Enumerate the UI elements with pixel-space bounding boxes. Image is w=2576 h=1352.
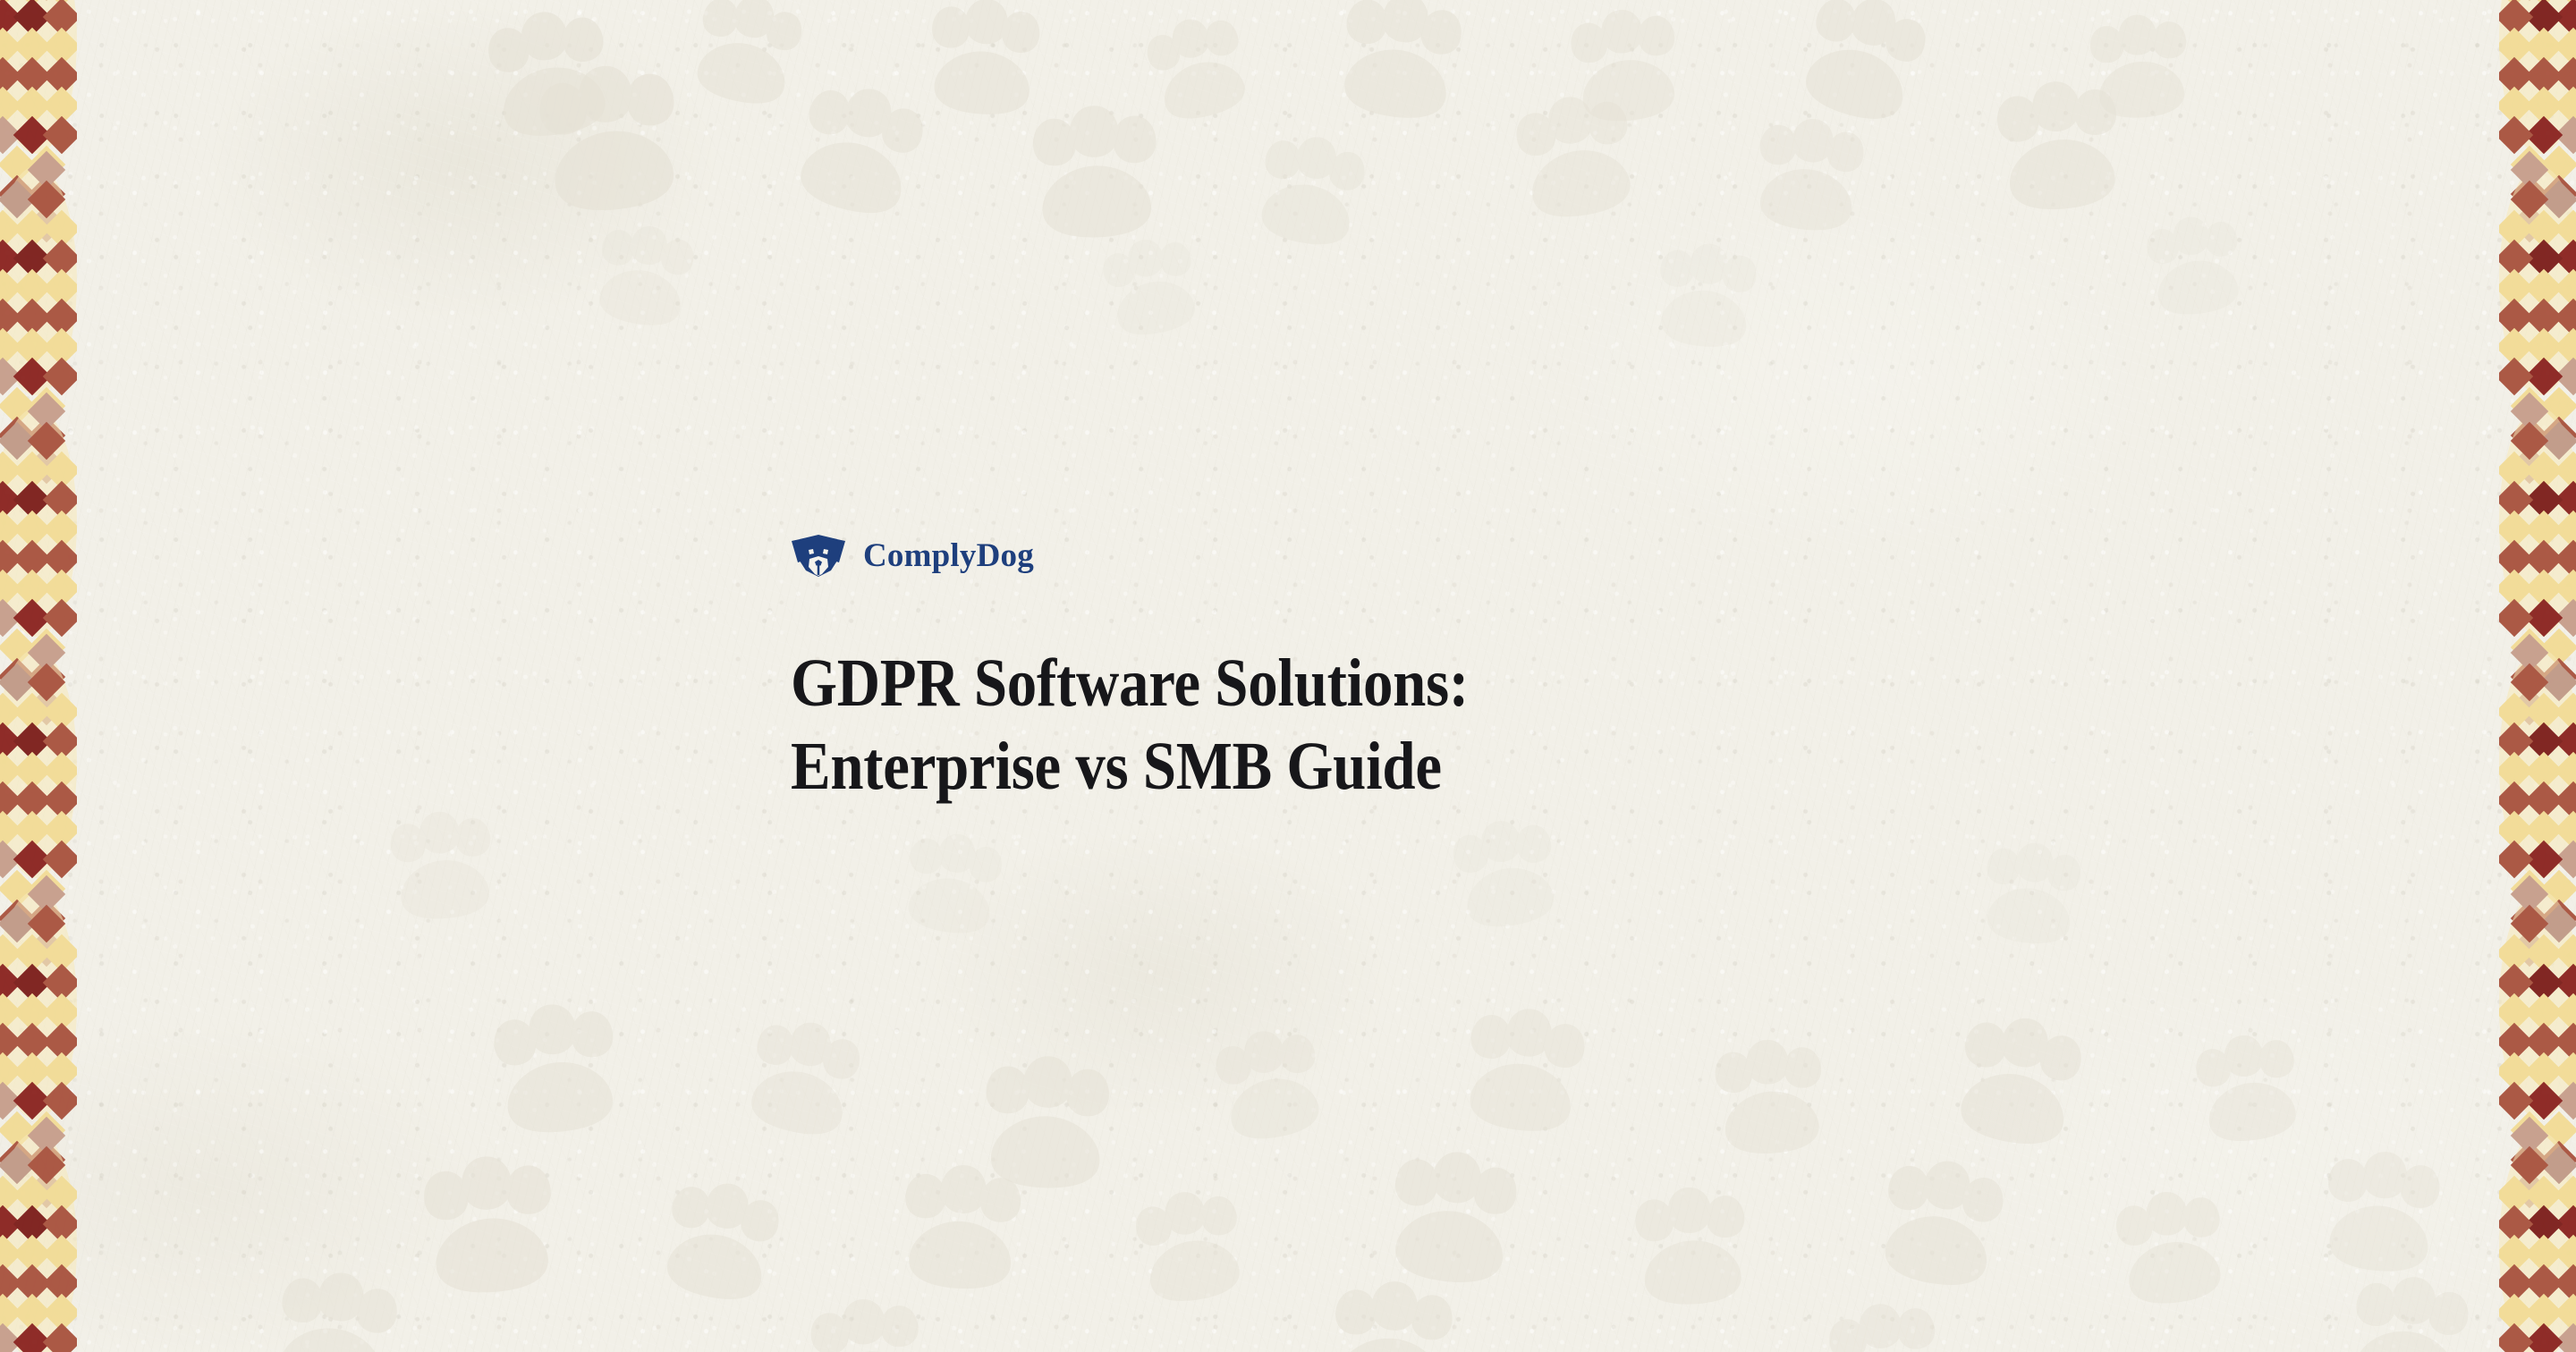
paw-print-icon — [917, 0, 1050, 126]
paw-print-icon — [1375, 1142, 1530, 1297]
paw-print-icon — [777, 71, 940, 233]
paw-print-icon — [380, 805, 506, 931]
paw-print-icon — [678, 0, 816, 120]
paw-print-icon — [1939, 1004, 2097, 1162]
paw-print-icon — [480, 994, 632, 1146]
paw-print-icon — [524, 55, 696, 226]
paw-print-icon — [1971, 835, 2091, 955]
paw-print-icon — [1133, 4, 1263, 134]
paw-print-icon — [647, 1170, 793, 1316]
paw-print-icon — [1091, 228, 1212, 349]
title-content: ComplyDog GDPR Software Solutions: Enter… — [791, 528, 1864, 853]
right-ornament-border — [2499, 0, 2576, 1352]
brand-logo[interactable]: ComplyDog — [791, 528, 1864, 583]
paw-print-icon — [411, 1148, 568, 1306]
paw-print-icon — [1319, 1274, 1464, 1352]
paw-print-icon — [731, 1008, 874, 1151]
paw-print-icon — [972, 1051, 1120, 1198]
paw-print-icon — [2080, 9, 2199, 128]
brand-name: ComplyDog — [863, 539, 1034, 572]
paw-print-icon — [474, 0, 625, 151]
paw-print-icon — [1123, 1180, 1258, 1315]
paw-print-icon — [1816, 1292, 1957, 1352]
paw-print-icon — [1243, 125, 1378, 260]
dog-head-icon — [791, 533, 846, 578]
paw-print-icon — [1451, 999, 1598, 1146]
paw-print-icon — [1324, 0, 1475, 134]
paw-print-icon — [1646, 237, 1767, 358]
paw-print-icon — [1864, 1148, 2018, 1302]
paw-print-icon — [1021, 100, 1169, 248]
paw-print-icon — [2104, 1182, 2238, 1316]
title-card: ComplyDog GDPR Software Solutions: Enter… — [0, 0, 2576, 1352]
paw-print-icon — [891, 1159, 1032, 1300]
paw-print-icon — [2184, 1026, 2314, 1155]
paw-print-icon — [1783, 0, 1943, 139]
paw-print-icon — [2136, 208, 2254, 326]
paw-print-icon — [799, 1290, 936, 1352]
page-title-line-2: Enterprise vs SMB Guide — [791, 725, 1735, 808]
left-ornament-border — [0, 0, 77, 1352]
page-title: GDPR Software Solutions: Enterprise vs S… — [791, 642, 1735, 807]
paw-print-icon — [1559, 1, 1691, 133]
paw-print-icon — [259, 1261, 411, 1352]
paw-print-icon — [582, 215, 705, 338]
paw-print-icon — [1624, 1181, 1758, 1314]
paw-print-icon — [1985, 73, 2135, 224]
paw-print-icon — [2336, 1267, 2482, 1352]
paw-print-icon — [2311, 1144, 2452, 1284]
page-title-line-1: GDPR Software Solutions: — [791, 642, 1735, 725]
paw-print-icon — [1742, 110, 1875, 242]
paw-print-icon — [1704, 1033, 1835, 1164]
paw-print-icon — [1503, 85, 1651, 233]
paw-print-icon — [1203, 1019, 1338, 1154]
